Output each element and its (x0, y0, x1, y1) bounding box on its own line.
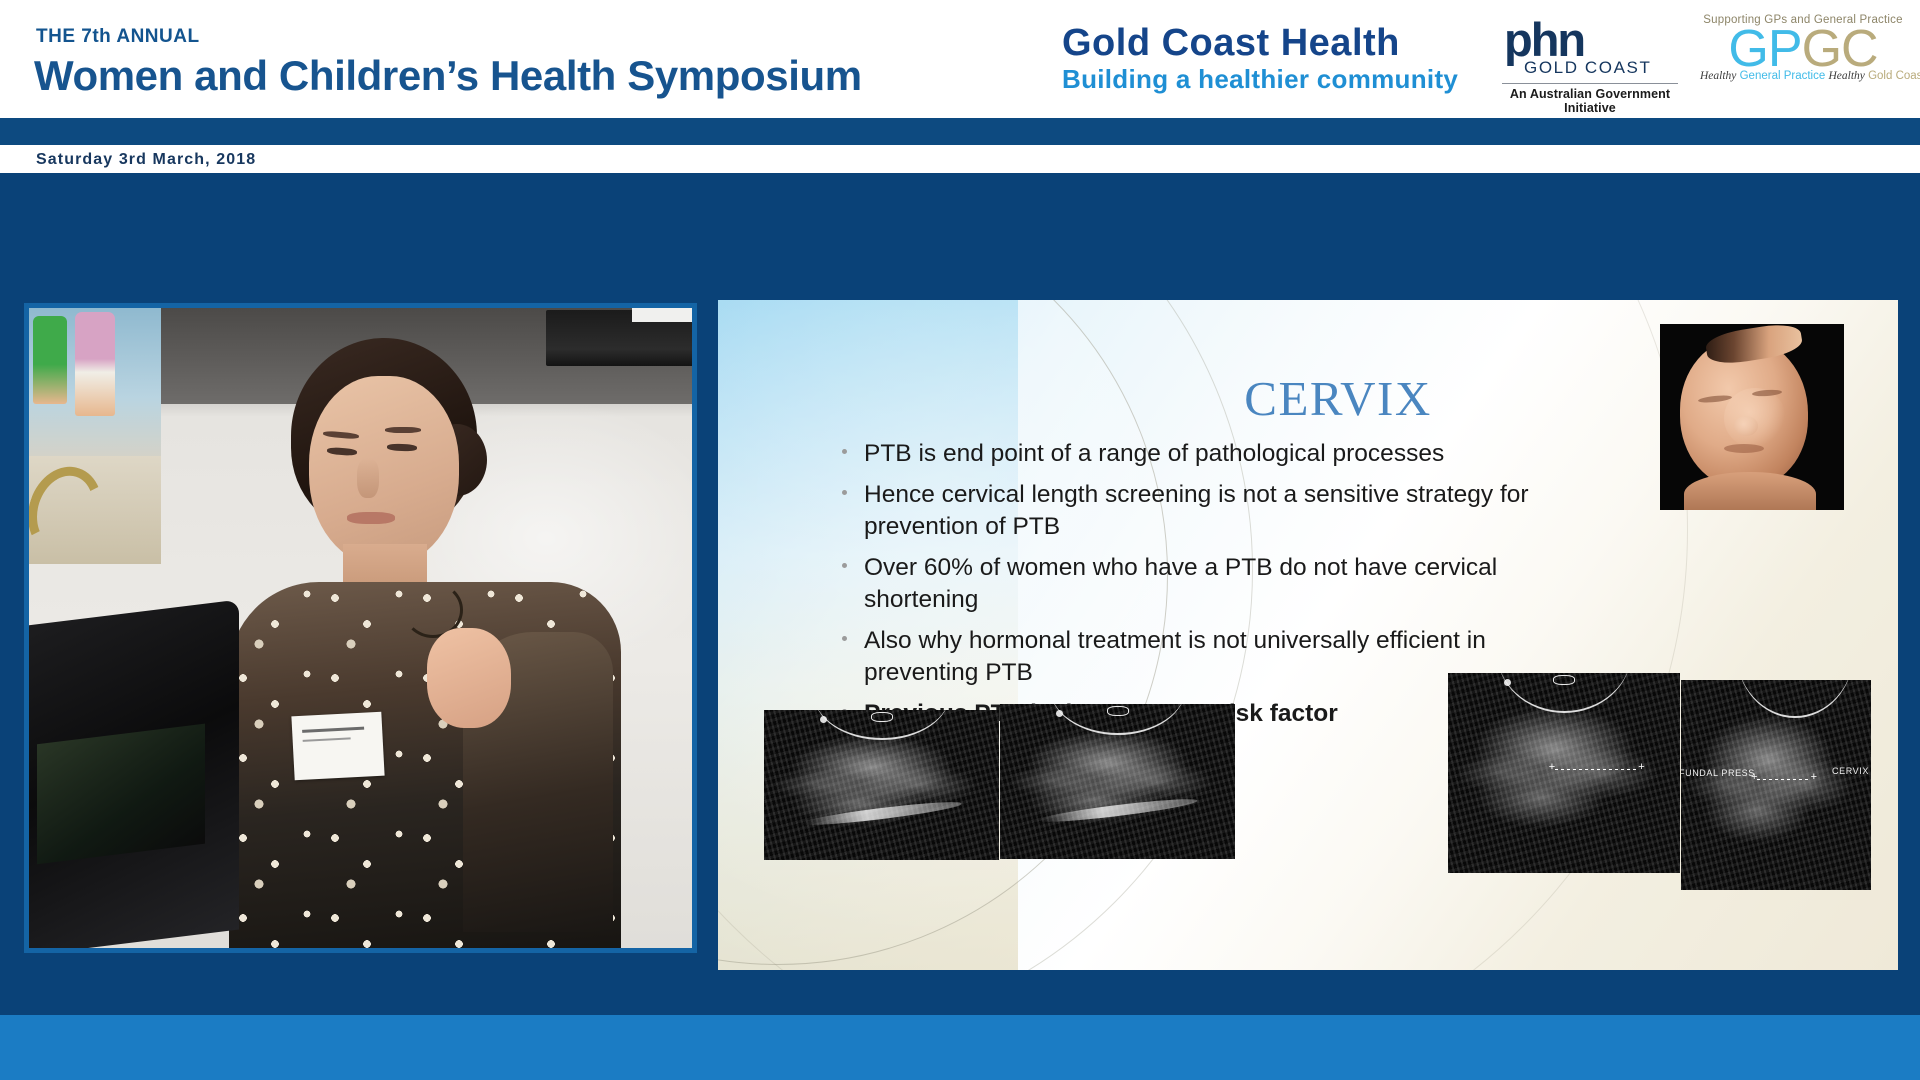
poster-child-pink (75, 312, 115, 416)
fetal-shoulder (1684, 472, 1816, 510)
list-item: Over 60% of women who have a PTB do not … (838, 552, 1598, 616)
header-accent-bar-top (0, 118, 1920, 145)
projector-screen-surface (632, 308, 692, 322)
fetal-mouth (1724, 444, 1764, 453)
gpgc-logo-letters: GPGC (1700, 24, 1906, 74)
bullet-dot-icon (842, 636, 847, 641)
ultrasound-label-fundal-press: FUNDAL PRESS (1681, 768, 1755, 778)
bullet-text: Over 60% of women who have a PTB do not … (864, 554, 1497, 613)
speaker-video-panel[interactable] (24, 303, 697, 953)
ultrasound-probe-marker (1107, 706, 1129, 716)
ultrasound-orientation-dot (1504, 679, 1511, 686)
ultrasound-label-cervix: CERVIX (1832, 766, 1869, 776)
presentation-frame: THE 7th ANNUAL Women and Children’s Heal… (0, 0, 1920, 1080)
gpgc-logo-tagline: Healthy General Practice Healthy Gold Co… (1700, 70, 1906, 82)
header-eyebrow: THE 7th ANNUAL (36, 26, 200, 48)
ultrasound-image-2 (1000, 704, 1235, 859)
fetal-3d-ultrasound-image (1660, 324, 1844, 510)
laptop-screen (37, 724, 205, 865)
gpgc-tagline-healthy-2: Healthy (1828, 70, 1864, 82)
event-date: Saturday 3rd March, 2018 (36, 151, 256, 169)
bullet-text: PTB is end point of a range of pathologi… (864, 440, 1444, 467)
ultrasound-caliper-measure (1555, 769, 1639, 770)
slide-title: CERVIX (958, 370, 1718, 427)
gch-logo-line1: Gold Coast Health (1062, 22, 1462, 64)
ultrasound-probe-marker (871, 712, 893, 722)
presentation-slide[interactable]: CERVIX PTB is end point of a range of pa… (718, 300, 1898, 970)
speaker-mouth (347, 512, 395, 524)
speaker-name-badge (291, 712, 384, 781)
ultrasound-probe-marker (1553, 675, 1575, 685)
ultrasound-image-3 (1448, 673, 1680, 873)
phn-logo-government-line: An Australian Government Initiative (1500, 87, 1680, 115)
gpgc-tagline-gold-coast: Gold Coast (1868, 70, 1920, 82)
page-title: Women and Children’s Health Symposium (34, 52, 862, 100)
bullet-dot-icon (842, 490, 847, 495)
gpgc-logo: Supporting GPs and General Practice GPGC… (1700, 14, 1906, 102)
speaker-nose (357, 458, 379, 498)
ultrasound-caliper-measure (1757, 779, 1811, 780)
phn-gold-coast-logo: phn GOLD COAST An Australian Government … (1500, 18, 1680, 104)
list-item: Hence cervical length screening is not a… (838, 479, 1598, 543)
phn-logo-divider (1502, 83, 1678, 84)
beach-poster (29, 308, 161, 564)
speaker-eyebrow-right (385, 427, 421, 433)
gpgc-tagline-healthy-1: Healthy (1700, 70, 1736, 82)
footer-bar: ArmchairMedical.tv (0, 1015, 1920, 1080)
phn-logo-wordmark: phn (1504, 18, 1680, 62)
ultrasound-image-4: FUNDAL PRESS CERVIX (1681, 680, 1871, 890)
gold-coast-health-logo: Gold Coast Health Building a healthier c… (1062, 22, 1462, 96)
date-bar (0, 145, 1920, 173)
gpgc-tagline-general-practice: General Practice (1740, 70, 1826, 82)
fetal-nose (1734, 416, 1758, 436)
speaker-face (309, 376, 459, 566)
phn-logo-subtitle: GOLD COAST (1524, 58, 1680, 78)
bullet-text: Also why hormonal treatment is not unive… (864, 627, 1486, 686)
list-item: PTB is end point of a range of pathologi… (838, 438, 1598, 470)
fetal-cheek (1724, 388, 1786, 448)
bullet-text: Hence cervical length screening is not a… (864, 481, 1529, 540)
speaker-figure (205, 332, 625, 948)
event-header: THE 7th ANNUAL Women and Children’s Heal… (0, 0, 1920, 118)
speaker-hand (427, 628, 511, 728)
bullet-dot-icon (842, 563, 847, 568)
speaker-video-frame (29, 308, 692, 948)
gch-logo-tagline: Building a healthier community (1062, 64, 1462, 94)
poster-child-green (33, 316, 67, 404)
ultrasound-image-1 (764, 710, 999, 860)
laptop (29, 599, 239, 948)
bullet-dot-icon (842, 449, 847, 454)
